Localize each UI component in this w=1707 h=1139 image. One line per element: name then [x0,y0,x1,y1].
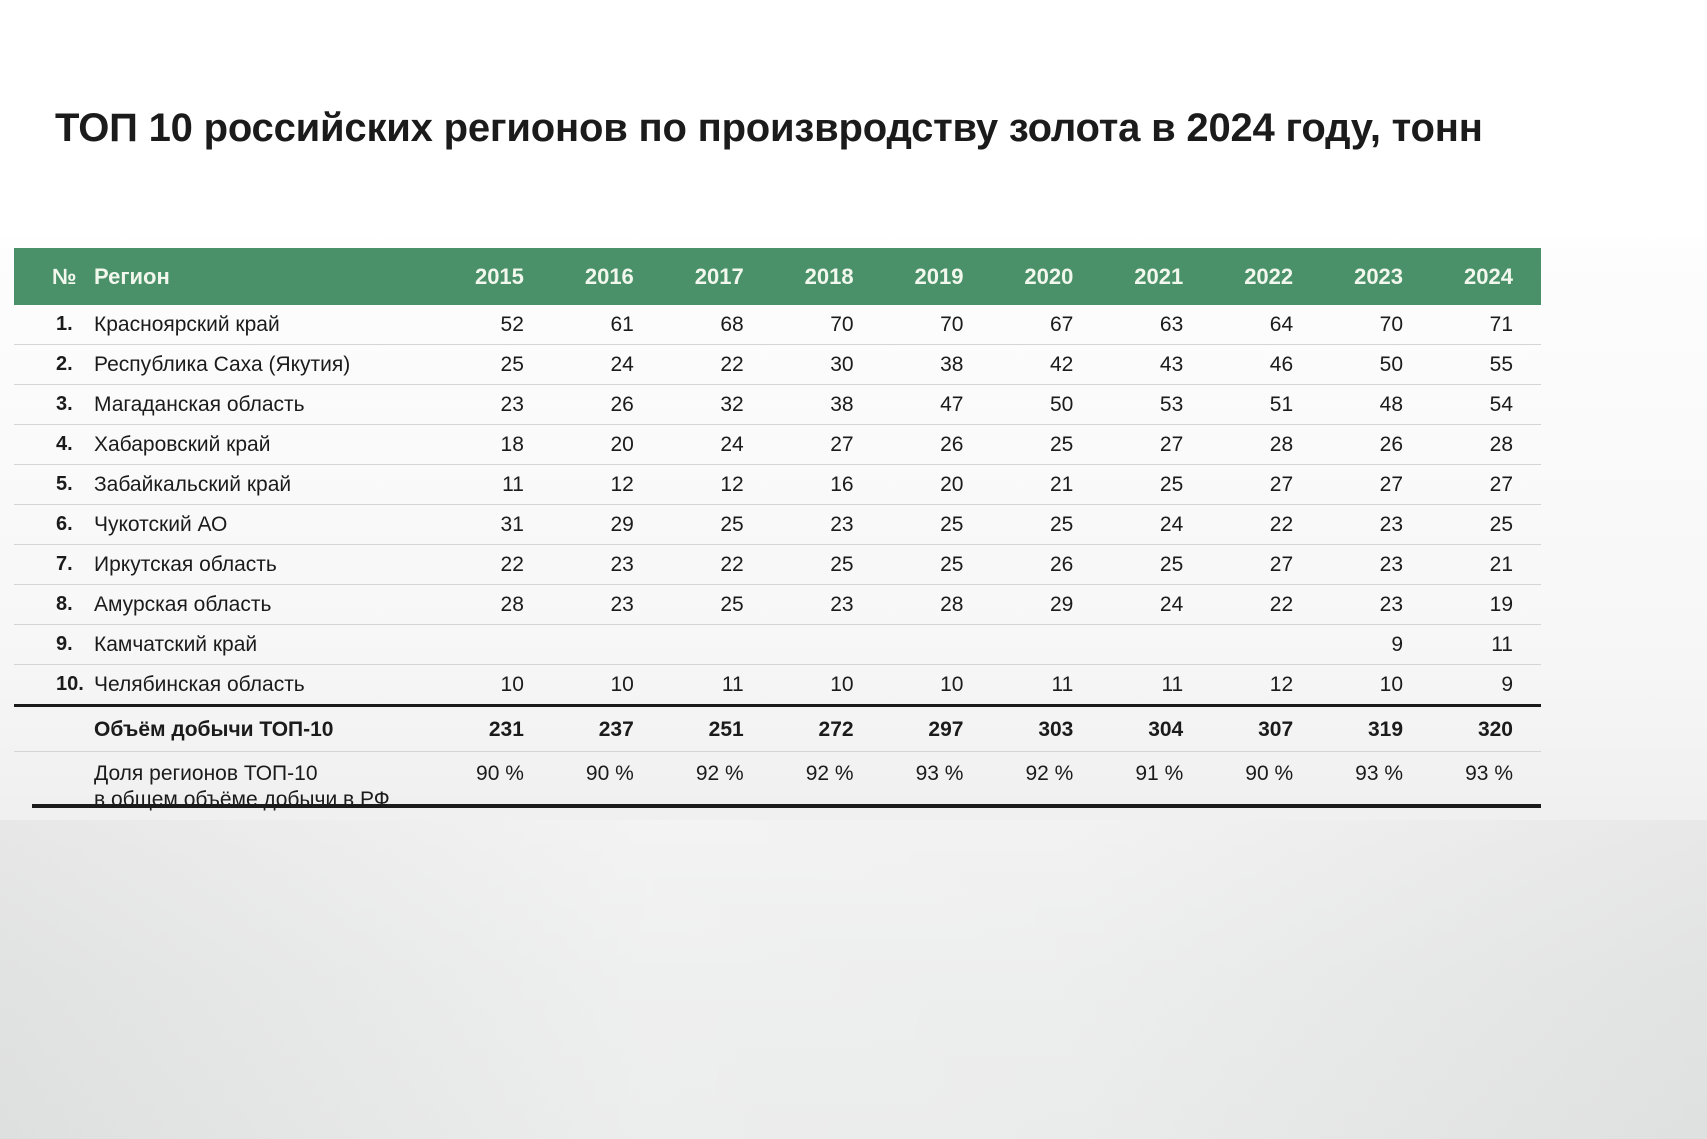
cell-2016: 24 [552,345,662,385]
cell-2019: 25 [882,545,992,585]
cell-2022: 27 [1211,545,1321,585]
share-2019: 93 % [882,752,992,836]
cell-2021: 25 [1101,465,1211,505]
total-row-spacer [14,706,82,752]
cell-2023: 23 [1321,545,1431,585]
share-2021: 91 % [1101,752,1211,836]
cell-2022: 22 [1211,585,1321,625]
total-2017: 251 [662,706,772,752]
cell-2017: 22 [662,545,772,585]
cell-2019 [882,625,992,665]
cell-2018 [772,625,882,665]
share-2020: 92 % [991,752,1101,836]
cell-2022 [1211,625,1321,665]
cell-2021: 24 [1101,505,1211,545]
column-header-2021: 2021 [1101,248,1211,305]
table-row: 8. Амурская область 28 23 25 23 28 29 24… [14,585,1541,625]
cell-2018: 10 [772,665,882,706]
total-row-label: Объём добычи ТОП-10 [82,706,442,752]
cell-2022: 27 [1211,465,1321,505]
total-2022: 307 [1211,706,1321,752]
cell-2021 [1101,625,1211,665]
cell-2023: 23 [1321,585,1431,625]
share-2022: 90 % [1211,752,1321,836]
cell-2015: 10 [442,665,552,706]
cell-2019: 70 [882,305,992,345]
cell-2017: 22 [662,345,772,385]
row-region: Республика Саха (Якутия) [82,345,442,385]
cell-2022: 64 [1211,305,1321,345]
row-region: Забайкальский край [82,465,442,505]
cell-2015: 31 [442,505,552,545]
cell-2021: 11 [1101,665,1211,706]
cell-2024: 25 [1431,505,1541,545]
table-row: 3. Магаданская область 23 26 32 38 47 50… [14,385,1541,425]
row-region: Челябинская область [82,665,442,706]
cell-2016: 23 [552,585,662,625]
cell-2017: 24 [662,425,772,465]
share-2018: 92 % [772,752,882,836]
column-header-2015: 2015 [442,248,552,305]
row-region: Камчатский край [82,625,442,665]
cell-2015: 18 [442,425,552,465]
cell-2021: 43 [1101,345,1211,385]
row-region: Иркутская область [82,545,442,585]
cell-2018: 25 [772,545,882,585]
cell-2022: 51 [1211,385,1321,425]
cell-2020: 42 [991,345,1101,385]
cell-2020: 29 [991,585,1101,625]
cell-2015: 25 [442,345,552,385]
total-2018: 272 [772,706,882,752]
row-rank: 6. [14,505,82,545]
column-header-2017: 2017 [662,248,772,305]
row-rank: 1. [14,305,82,345]
cell-2024: 19 [1431,585,1541,625]
row-region: Чукотский АО [82,505,442,545]
cell-2021: 27 [1101,425,1211,465]
cell-2022: 46 [1211,345,1321,385]
table-row: 6. Чукотский АО 31 29 25 23 25 25 24 22 … [14,505,1541,545]
row-region: Красноярский край [82,305,442,345]
table-row: 4. Хабаровский край 18 20 24 27 26 25 27… [14,425,1541,465]
cell-2022: 22 [1211,505,1321,545]
table-row: 10. Челябинская область 10 10 11 10 10 1… [14,665,1541,706]
cell-2024: 21 [1431,545,1541,585]
share-2017: 92 % [662,752,772,836]
table-row: 1. Красноярский край 52 61 68 70 70 67 6… [14,305,1541,345]
share-row-label-line2: в общем объёме добычи в РФ [94,787,442,813]
cell-2019: 28 [882,585,992,625]
column-header-region: Регион [82,248,442,305]
table-share-row: Доля регионов ТОП-10 в общем объёме добы… [14,752,1541,836]
cell-2019: 38 [882,345,992,385]
cell-2020: 67 [991,305,1101,345]
cell-2023: 70 [1321,305,1431,345]
cell-2017: 11 [662,665,772,706]
row-rank: 10. [14,665,82,706]
column-header-2020: 2020 [991,248,1101,305]
column-header-2022: 2022 [1211,248,1321,305]
cell-2024: 54 [1431,385,1541,425]
column-header-2016: 2016 [552,248,662,305]
cell-2015: 22 [442,545,552,585]
cell-2023: 48 [1321,385,1431,425]
cell-2020 [991,625,1101,665]
cell-2020: 25 [991,505,1101,545]
table-bottom-rule [32,804,1541,808]
cell-2018: 30 [772,345,882,385]
cell-2020: 26 [991,545,1101,585]
cell-2015: 52 [442,305,552,345]
cell-2016: 61 [552,305,662,345]
cell-2018: 23 [772,585,882,625]
table-row: 7. Иркутская область 22 23 22 25 25 26 2… [14,545,1541,585]
share-row-spacer [14,752,82,836]
cell-2016: 23 [552,545,662,585]
cell-2019: 26 [882,425,992,465]
column-header-number: № [14,248,82,305]
table-row: 2. Республика Саха (Якутия) 25 24 22 30 … [14,345,1541,385]
row-rank: 8. [14,585,82,625]
row-rank: 4. [14,425,82,465]
cell-2024: 55 [1431,345,1541,385]
cell-2019: 20 [882,465,992,505]
cell-2020: 25 [991,425,1101,465]
cell-2018: 23 [772,505,882,545]
total-2021: 304 [1101,706,1211,752]
table-row: 5. Забайкальский край 11 12 12 16 20 21 … [14,465,1541,505]
cell-2023: 50 [1321,345,1431,385]
total-2015: 231 [442,706,552,752]
cell-2016 [552,625,662,665]
cell-2020: 50 [991,385,1101,425]
share-row-label-line1: Доля регионов ТОП-10 [94,761,442,787]
row-rank: 5. [14,465,82,505]
table-body: 1. Красноярский край 52 61 68 70 70 67 6… [14,305,1541,835]
cell-2015: 11 [442,465,552,505]
cell-2024: 71 [1431,305,1541,345]
cell-2019: 47 [882,385,992,425]
share-2016: 90 % [552,752,662,836]
column-header-2023: 2023 [1321,248,1431,305]
table-total-row: Объём добычи ТОП-10 231 237 251 272 297 … [14,706,1541,752]
cell-2023: 26 [1321,425,1431,465]
cell-2015 [442,625,552,665]
cell-2019: 25 [882,505,992,545]
cell-2017: 25 [662,585,772,625]
cell-2023: 23 [1321,505,1431,545]
total-2019: 297 [882,706,992,752]
total-2016: 237 [552,706,662,752]
cell-2023: 27 [1321,465,1431,505]
cell-2016: 26 [552,385,662,425]
share-2023: 93 % [1321,752,1431,836]
table-header: № Регион 2015 2016 2017 2018 2019 2020 2… [14,248,1541,305]
cell-2017 [662,625,772,665]
cell-2017: 68 [662,305,772,345]
row-rank: 3. [14,385,82,425]
share-2024: 93 % [1431,752,1541,836]
row-region: Хабаровский край [82,425,442,465]
cell-2018: 70 [772,305,882,345]
cell-2019: 10 [882,665,992,706]
column-header-2019: 2019 [882,248,992,305]
cell-2020: 11 [991,665,1101,706]
cell-2017: 32 [662,385,772,425]
total-2020: 303 [991,706,1101,752]
row-rank: 7. [14,545,82,585]
cell-2020: 21 [991,465,1101,505]
cell-2023: 10 [1321,665,1431,706]
cell-2016: 20 [552,425,662,465]
cell-2017: 12 [662,465,772,505]
cell-2024: 11 [1431,625,1541,665]
cell-2024: 28 [1431,425,1541,465]
column-header-2024: 2024 [1431,248,1541,305]
cell-2015: 23 [442,385,552,425]
total-2024: 320 [1431,706,1541,752]
cell-2018: 16 [772,465,882,505]
cell-2023: 9 [1321,625,1431,665]
table-header-row: № Регион 2015 2016 2017 2018 2019 2020 2… [14,248,1541,305]
cell-2018: 27 [772,425,882,465]
cell-2016: 12 [552,465,662,505]
cell-2016: 29 [552,505,662,545]
gold-production-table: № Регион 2015 2016 2017 2018 2019 2020 2… [14,248,1541,835]
share-row-label: Доля регионов ТОП-10 в общем объёме добы… [82,752,442,836]
column-header-2018: 2018 [772,248,882,305]
cell-2016: 10 [552,665,662,706]
row-region: Амурская область [82,585,442,625]
cell-2022: 28 [1211,425,1321,465]
page-title: ТОП 10 российских регионов по произвродс… [55,104,1483,152]
cell-2021: 63 [1101,305,1211,345]
cell-2018: 38 [772,385,882,425]
row-rank: 2. [14,345,82,385]
cell-2015: 28 [442,585,552,625]
share-2015: 90 % [442,752,552,836]
gold-production-table-container: № Регион 2015 2016 2017 2018 2019 2020 2… [14,248,1541,835]
table-row: 9. Камчатский край 9 11 [14,625,1541,665]
row-region: Магаданская область [82,385,442,425]
cell-2022: 12 [1211,665,1321,706]
cell-2024: 27 [1431,465,1541,505]
cell-2021: 24 [1101,585,1211,625]
cell-2024: 9 [1431,665,1541,706]
cell-2021: 53 [1101,385,1211,425]
row-rank: 9. [14,625,82,665]
cell-2017: 25 [662,505,772,545]
cell-2021: 25 [1101,545,1211,585]
total-2023: 319 [1321,706,1431,752]
